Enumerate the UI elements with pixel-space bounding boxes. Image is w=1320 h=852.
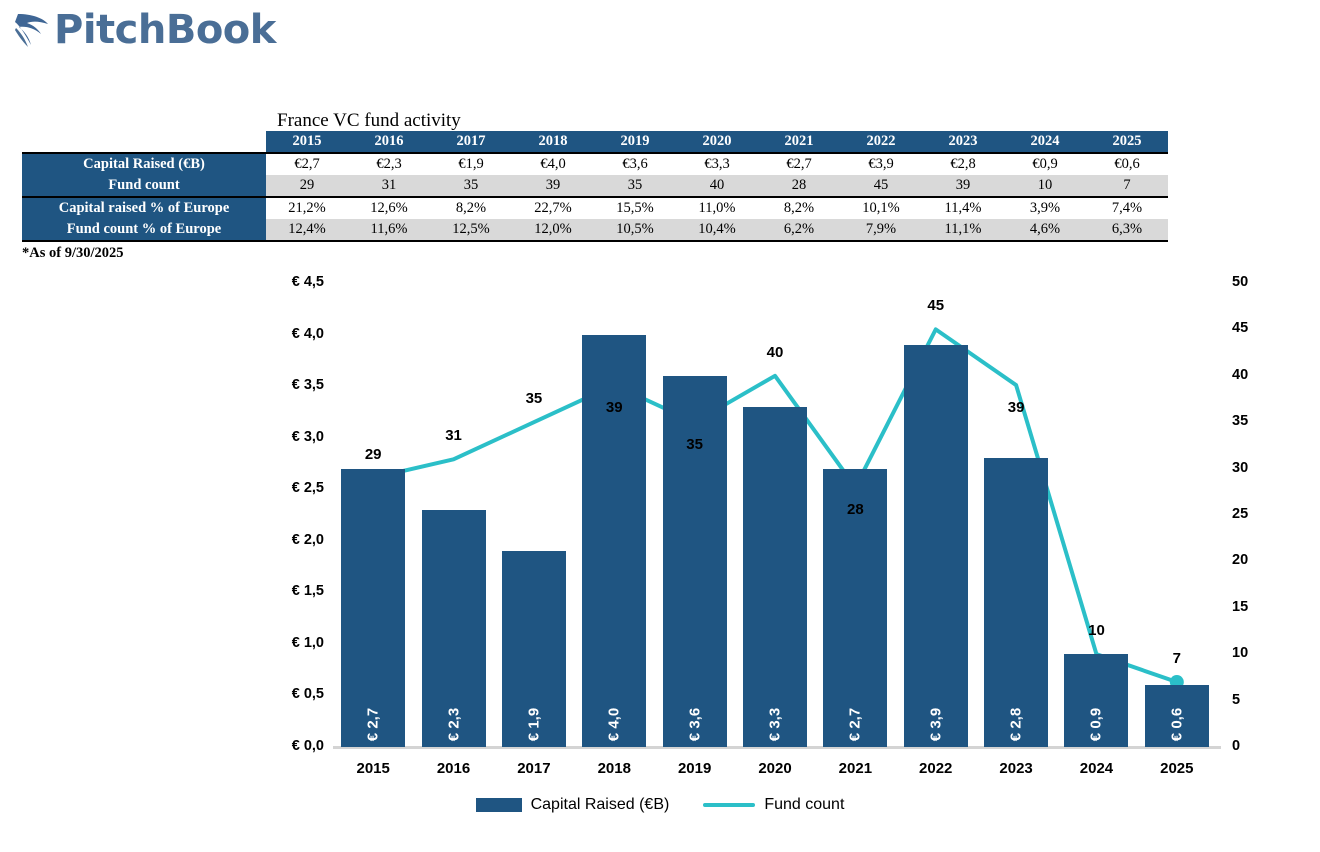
table-cell: 12,5%	[430, 219, 512, 241]
table-cell: 7,9%	[840, 219, 922, 241]
x-axis-tick-2015: 2015	[356, 760, 389, 777]
y-axis-left-tick: € 0,5	[258, 686, 324, 702]
bar-2023[interactable]: € 2,8	[984, 458, 1048, 747]
table-header-row: 2015 2016 2017 2018 2019 2020 2021 2022 …	[22, 131, 1168, 153]
table-row-label: Capital raised % of Europe	[22, 197, 266, 219]
bar-value-label: € 3,9	[927, 708, 944, 741]
table-cell: 8,2%	[430, 197, 512, 219]
table-header-year: 2019	[594, 131, 676, 153]
fund-count-label-2016: 31	[445, 427, 462, 444]
y-axis-right-tick: 30	[1232, 460, 1278, 476]
table-cell: 3,9%	[1004, 197, 1086, 219]
y-axis-left-tick: € 0,0	[258, 738, 324, 754]
table-cell: €2,8	[922, 153, 1004, 175]
table-header-year: 2021	[758, 131, 840, 153]
table-cell: 12,4%	[266, 219, 348, 241]
table-cell: 39	[512, 175, 594, 197]
table-cell: 35	[594, 175, 676, 197]
fund-count-label-2017: 35	[526, 390, 543, 407]
legend-label: Capital Raised (€B)	[531, 796, 670, 814]
pitchbook-swoosh-icon	[12, 8, 52, 52]
table-row: Fund count % of Europe 12,4% 11,6% 12,5%…	[22, 219, 1168, 241]
table-cell: €3,9	[840, 153, 922, 175]
table-cell: 6,3%	[1086, 219, 1168, 241]
x-axis-tick-2022: 2022	[919, 760, 952, 777]
table-cell: 29	[266, 175, 348, 197]
fund-count-label-2023: 39	[1008, 399, 1025, 416]
fund-count-label-2021: 28	[847, 501, 864, 518]
bar-value-label: € 4,0	[606, 708, 623, 741]
fund-count-label-2015: 29	[365, 446, 382, 463]
table-cell: €4,0	[512, 153, 594, 175]
legend-swatch-line-icon	[703, 803, 755, 807]
table-cell: €0,9	[1004, 153, 1086, 175]
table-cell: 11,1%	[922, 219, 1004, 241]
bar-value-label: € 1,9	[525, 708, 542, 741]
x-axis-tick-2016: 2016	[437, 760, 470, 777]
x-axis-tick-2025: 2025	[1160, 760, 1193, 777]
table-cell: €2,7	[266, 153, 348, 175]
chart-legend: Capital Raised (€B) Fund count	[0, 796, 1320, 814]
bar-2022[interactable]: € 3,9	[904, 345, 968, 747]
y-axis-left-tick: € 2,0	[258, 532, 324, 548]
table-header-year: 2016	[348, 131, 430, 153]
table-title: France VC fund activity	[277, 110, 461, 132]
bar-2019[interactable]: € 3,6	[663, 376, 727, 747]
table-row-label: Fund count	[22, 175, 266, 197]
y-axis-right-tick: 15	[1232, 599, 1278, 615]
y-axis-left-tick: € 1,0	[258, 635, 324, 651]
y-axis-right-tick: 45	[1232, 320, 1278, 336]
table-cell: €2,7	[758, 153, 840, 175]
fund-count-label-2022: 45	[927, 297, 944, 314]
table-cell: 40	[676, 175, 758, 197]
france-vc-fund-activity-table: 2015 2016 2017 2018 2019 2020 2021 2022 …	[22, 131, 1168, 242]
x-axis-tick-2017: 2017	[517, 760, 550, 777]
fund-activity-chart: € 2,7€ 2,3€ 1,9€ 4,0€ 3,6€ 3,3€ 2,7€ 3,9…	[0, 268, 1320, 828]
bar-2024[interactable]: € 0,9	[1064, 654, 1128, 747]
table-cell: €1,9	[430, 153, 512, 175]
table-cell: 12,6%	[348, 197, 430, 219]
y-axis-right-tick: 40	[1232, 367, 1278, 383]
pitchbook-wordmark: PitchBook	[54, 10, 276, 50]
table-cell: 28	[758, 175, 840, 197]
table-cell: 39	[922, 175, 1004, 197]
legend-item-fund-count[interactable]: Fund count	[703, 796, 844, 814]
bar-2020[interactable]: € 3,3	[743, 407, 807, 747]
table-cell: 8,2%	[758, 197, 840, 219]
bar-2015[interactable]: € 2,7	[341, 469, 405, 747]
table-row: Capital Raised (€B) €2,7 €2,3 €1,9 €4,0 …	[22, 153, 1168, 175]
x-axis-tick-2024: 2024	[1080, 760, 1113, 777]
table-cell: €3,6	[594, 153, 676, 175]
bar-2025[interactable]: € 0,6	[1145, 685, 1209, 747]
bar-value-label: € 2,3	[445, 708, 462, 741]
y-axis-right-tick: 25	[1232, 506, 1278, 522]
x-axis-tick-2018: 2018	[598, 760, 631, 777]
table-header-year: 2017	[430, 131, 512, 153]
table-header-year: 2015	[266, 131, 348, 153]
bar-value-label: € 2,8	[1008, 708, 1025, 741]
table-cell: 15,5%	[594, 197, 676, 219]
legend-label: Fund count	[764, 796, 844, 814]
y-axis-right-tick: 5	[1232, 692, 1278, 708]
table-cell: 6,2%	[758, 219, 840, 241]
bar-2018[interactable]: € 4,0	[582, 335, 646, 747]
table-header-year: 2025	[1086, 131, 1168, 153]
y-axis-right-tick: 10	[1232, 645, 1278, 661]
table-cell: 12,0%	[512, 219, 594, 241]
fund-count-label-2024: 10	[1088, 622, 1105, 639]
table-cell: €0,6	[1086, 153, 1168, 175]
table-header-year: 2024	[1004, 131, 1086, 153]
table-cell: 10,5%	[594, 219, 676, 241]
fund-count-label-2019: 35	[686, 436, 703, 453]
table-header-year: 2022	[840, 131, 922, 153]
y-axis-left-tick: € 3,5	[258, 377, 324, 393]
table-cell: 10,4%	[676, 219, 758, 241]
table-cell: 4,6%	[1004, 219, 1086, 241]
bar-value-label: € 0,6	[1168, 708, 1185, 741]
table-cell: 11,0%	[676, 197, 758, 219]
bar-value-label: € 3,3	[767, 708, 784, 741]
table-cell: 7,4%	[1086, 197, 1168, 219]
table-cell: 21,2%	[266, 197, 348, 219]
y-axis-right-tick: 0	[1232, 738, 1278, 754]
y-axis-left-tick: € 1,5	[258, 583, 324, 599]
table-row-label: Capital Raised (€B)	[22, 153, 266, 175]
x-axis-tick-2021: 2021	[839, 760, 872, 777]
y-axis-right-tick: 35	[1232, 413, 1278, 429]
table-cell: 22,7%	[512, 197, 594, 219]
table-cell: 7	[1086, 175, 1168, 197]
fund-count-label-2020: 40	[767, 344, 784, 361]
legend-swatch-bar-icon	[476, 798, 522, 812]
bar-2016[interactable]: € 2,3	[422, 510, 486, 747]
table-cell: €3,3	[676, 153, 758, 175]
bar-value-label: € 2,7	[847, 708, 864, 741]
bar-value-label: € 0,9	[1088, 708, 1105, 741]
table-cell: 10	[1004, 175, 1086, 197]
table-header-year: 2023	[922, 131, 1004, 153]
table-cell: 35	[430, 175, 512, 197]
x-axis-tick-2019: 2019	[678, 760, 711, 777]
y-axis-right-tick: 50	[1232, 274, 1278, 290]
table-cell: 31	[348, 175, 430, 197]
table-cell: 10,1%	[840, 197, 922, 219]
y-axis-left-tick: € 2,5	[258, 480, 324, 496]
y-axis-left-tick: € 4,0	[258, 326, 324, 342]
bar-value-label: € 3,6	[686, 708, 703, 741]
table-cell: 45	[840, 175, 922, 197]
table-header-year: 2020	[676, 131, 758, 153]
y-axis-left-tick: € 4,5	[258, 274, 324, 290]
table-header-year: 2018	[512, 131, 594, 153]
legend-item-capital-raised[interactable]: Capital Raised (€B)	[476, 796, 670, 814]
pitchbook-logo: PitchBook	[12, 8, 276, 52]
fund-count-label-2025: 7	[1173, 650, 1181, 667]
table-cell: 11,4%	[922, 197, 1004, 219]
table-corner-cell	[22, 131, 266, 153]
y-axis-right-tick: 20	[1232, 552, 1278, 568]
y-axis-left-tick: € 3,0	[258, 429, 324, 445]
table-row: Fund count 29 31 35 39 35 40 28 45 39 10…	[22, 175, 1168, 197]
table-row-label: Fund count % of Europe	[22, 219, 266, 241]
table-cell: 11,6%	[348, 219, 430, 241]
table-footnote: *As of 9/30/2025	[22, 245, 124, 262]
x-axis-tick-2023: 2023	[999, 760, 1032, 777]
x-axis-tick-2020: 2020	[758, 760, 791, 777]
bar-2017[interactable]: € 1,9	[502, 551, 566, 747]
bar-value-label: € 2,7	[365, 708, 382, 741]
table-cell: €2,3	[348, 153, 430, 175]
table-row: Capital raised % of Europe 21,2% 12,6% 8…	[22, 197, 1168, 219]
fund-count-label-2018: 39	[606, 399, 623, 416]
